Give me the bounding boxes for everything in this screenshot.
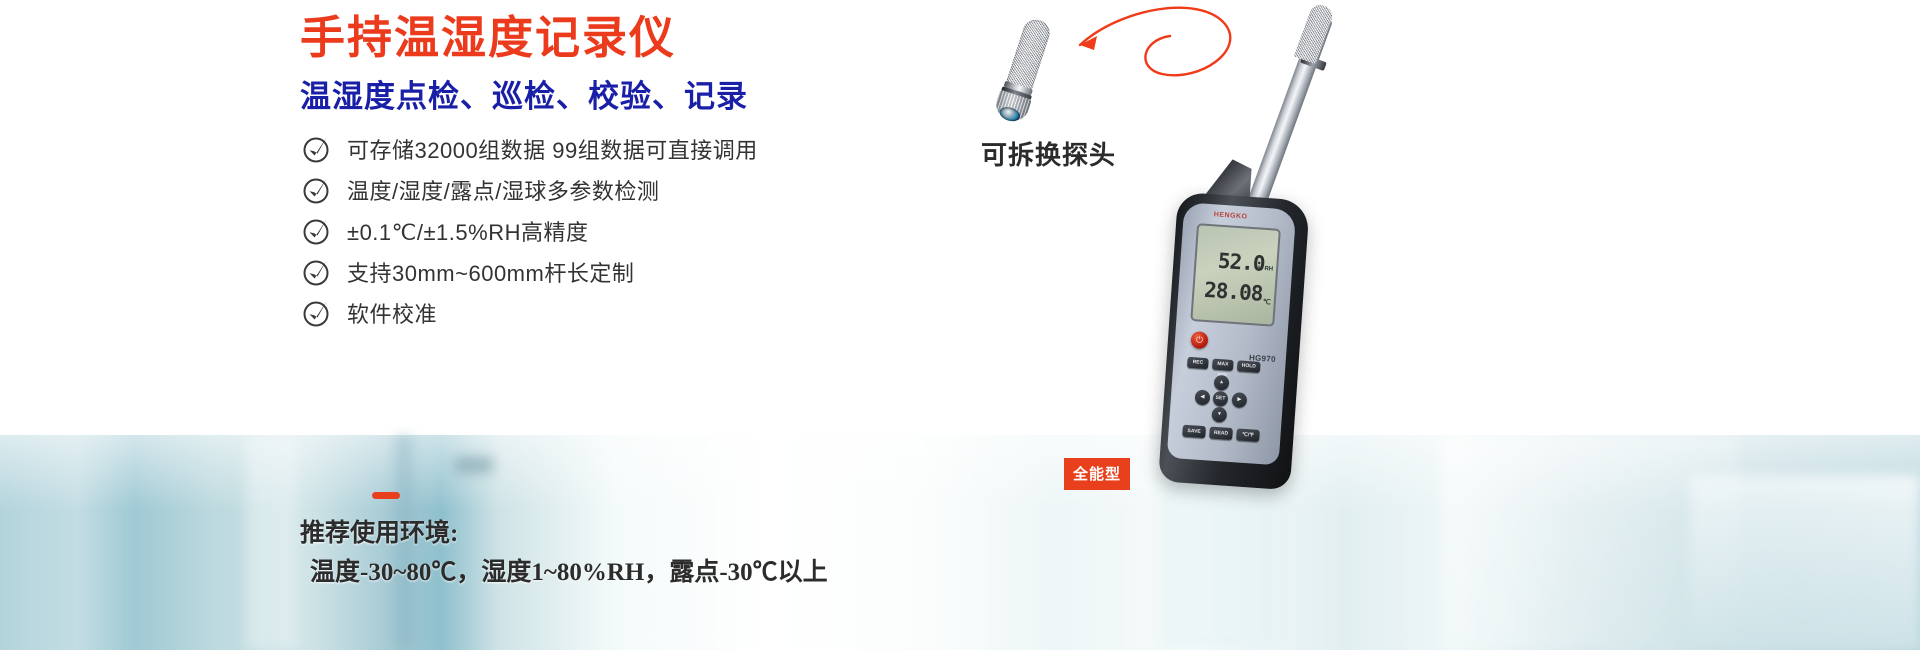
- product-device-image: HENGKO 52.0 % RH 28.08 ℃ ⏻ HG970 REC MAX…: [1060, 0, 1360, 520]
- lcd-temperature-unit: ℃: [1263, 298, 1271, 307]
- detachable-probe-image: [988, 14, 1059, 129]
- environment-detail: 温度-30~80℃，湿度1~80%RH，露点-30℃以上: [300, 554, 828, 593]
- page-subtitle: 温湿度点检、巡检、校验、记录: [300, 78, 748, 117]
- device-key[interactable]: ▶: [1231, 392, 1247, 408]
- list-item: 可存储32000组数据 99组数据可直接调用: [302, 128, 1002, 169]
- check-circle-icon: [302, 134, 332, 164]
- check-circle-icon: [302, 257, 332, 287]
- list-item: 支持30mm~600mm杆长定制: [302, 251, 1002, 292]
- device-key[interactable]: ▼: [1211, 407, 1227, 423]
- lcd-temperature-value: 28.08: [1203, 278, 1263, 306]
- feature-list: 可存储32000组数据 99组数据可直接调用 温度/湿度/露点/湿球多参数检测 …: [302, 128, 1002, 333]
- device-key[interactable]: REC: [1187, 357, 1209, 369]
- lcd-humidity-unit: % RH: [1257, 265, 1273, 272]
- list-item-label: 软件校准: [347, 297, 437, 329]
- list-item-label: 支持30mm~600mm杆长定制: [347, 256, 634, 288]
- device-key[interactable]: SAVE: [1182, 425, 1206, 439]
- device-key[interactable]: ◀: [1194, 389, 1210, 405]
- device-probe-mesh: [1294, 2, 1335, 64]
- device-key[interactable]: MAX MIN: [1212, 359, 1234, 371]
- list-item-label: ±0.1℃/±1.5%RH高精度: [347, 215, 588, 247]
- probe-mesh-filter: [1006, 16, 1053, 91]
- device-keypad: REC MAX MIN HOLD ▲ ◀ ▶ ▼ SET SAVE READ ℃…: [1179, 353, 1278, 459]
- device-body: HENGKO 52.0 % RH 28.08 ℃ ⏻ HG970 REC MAX…: [1158, 192, 1310, 491]
- device-key[interactable]: SET: [1212, 391, 1228, 407]
- product-banner: 手持温湿度记录仪 温湿度点检、巡检、校验、记录 可存储32000组数据 99组数…: [0, 0, 1920, 650]
- device-brand-label: HENGKO: [1214, 211, 1248, 220]
- check-circle-icon: [302, 298, 332, 328]
- red-dash-divider: [372, 492, 400, 499]
- device-key[interactable]: HOLD: [1237, 360, 1261, 373]
- device-key[interactable]: ▲: [1214, 375, 1230, 391]
- device-faceplate: HENGKO 52.0 % RH 28.08 ℃ ⏻ HG970 REC MAX…: [1167, 202, 1297, 465]
- photo-panel-3: [455, 457, 493, 473]
- device-key[interactable]: READ: [1209, 427, 1233, 441]
- status-badge: 全能型: [1064, 458, 1130, 490]
- list-item: 温度/湿度/露点/湿球多参数检测: [302, 169, 1002, 210]
- lcd-humidity-value: 52.0: [1217, 249, 1265, 276]
- background-photo-band: [0, 435, 1920, 650]
- list-item-label: 温度/湿度/露点/湿球多参数检测: [347, 174, 659, 206]
- device-key[interactable]: ℃/℉: [1236, 428, 1260, 442]
- power-icon[interactable]: ⏻: [1190, 331, 1208, 349]
- list-item: 软件校准: [302, 292, 1002, 333]
- page-title: 手持温湿度记录仪: [300, 10, 676, 66]
- photo-panel-1: [246, 435, 298, 650]
- device-lcd-screen: 52.0 % RH 28.08 ℃: [1190, 223, 1281, 327]
- environment-note: 推荐使用环境: 温度-30~80℃，湿度1~80%RH，露点-30℃以上: [300, 515, 828, 593]
- list-item-label: 可存储32000组数据 99组数据可直接调用: [347, 133, 758, 165]
- environment-heading: 推荐使用环境:: [300, 515, 828, 554]
- check-circle-icon: [302, 216, 332, 246]
- photo-panel-5: [1690, 475, 1920, 650]
- check-circle-icon: [302, 175, 332, 205]
- list-item: ±0.1℃/±1.5%RH高精度: [302, 210, 1002, 251]
